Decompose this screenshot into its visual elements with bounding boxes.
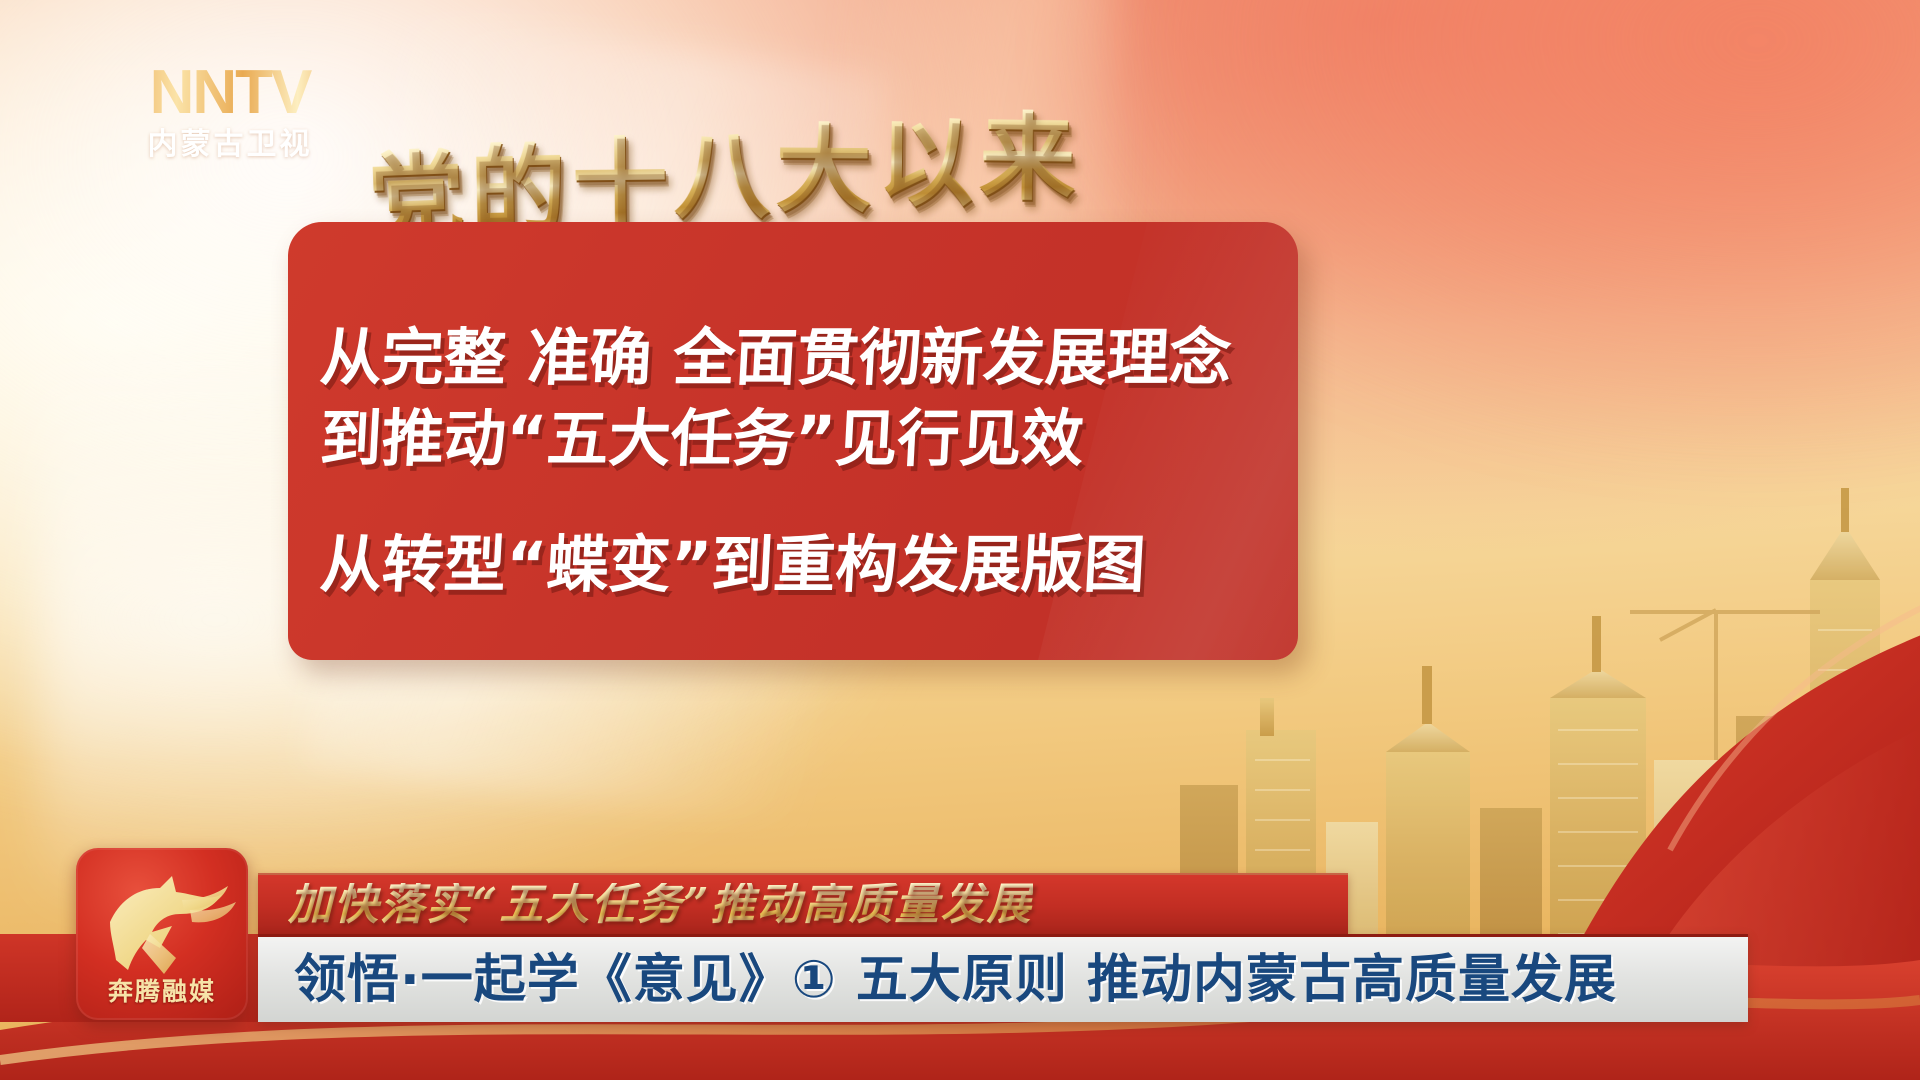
gold-headline-char: 来 [979, 109, 1076, 206]
red-card-text-block: 从完整 准确 全面贯彻新发展理念 到推动“五大任务”见行见效 从转型“蝶变”到重… [288, 222, 1298, 660]
gold-headline-char: 大 [775, 121, 872, 218]
kicker-text: 加快落实“五大任务”推动高质量发展 [288, 883, 1033, 927]
red-card-spacer [320, 479, 1298, 525]
red-card-line-2: 到推动“五大任务”见行见效 [318, 399, 1298, 480]
broadcast-frame: NNTV 内蒙古卫视 党 的 十 八 大 以 来 从完整 准确 全面贯彻新发展理… [0, 0, 1920, 1080]
gold-headline-char: 十 [571, 134, 668, 231]
gold-headline-char: 八 [674, 128, 770, 224]
headline-bar: 领悟·一起学《意见》① 五大原则 推动内蒙古高质量发展 [258, 934, 1748, 1022]
kicker-strap: 加快落实“五大任务”推动高质量发展 [258, 873, 1348, 935]
gold-headline-char: 以 [877, 115, 974, 212]
channel-logo-bug: NNTV 内蒙古卫视 [110, 62, 350, 161]
station-logo-badge: 奔腾融媒 [76, 848, 248, 1020]
red-content-card: 从完整 准确 全面贯彻新发展理念 到推动“五大任务”见行见效 从转型“蝶变”到重… [288, 222, 1298, 660]
station-logo-label: 奔腾融媒 [76, 972, 248, 1008]
lower-third: 奔腾融媒 加快落实“五大任务”推动高质量发展 领悟·一起学《意见》① 五大原则 … [0, 820, 1920, 1080]
channel-latin-name: NNTV [110, 62, 350, 124]
headline-text: 领悟·一起学《意见》① 五大原则 推动内蒙古高质量发展 [294, 954, 1617, 1006]
red-card-line-3: 从转型“蝶变”到重构发展版图 [318, 525, 1298, 606]
red-card-line-1: 从完整 准确 全面贯彻新发展理念 [318, 318, 1298, 399]
channel-chinese-name: 内蒙古卫视 [110, 128, 350, 161]
